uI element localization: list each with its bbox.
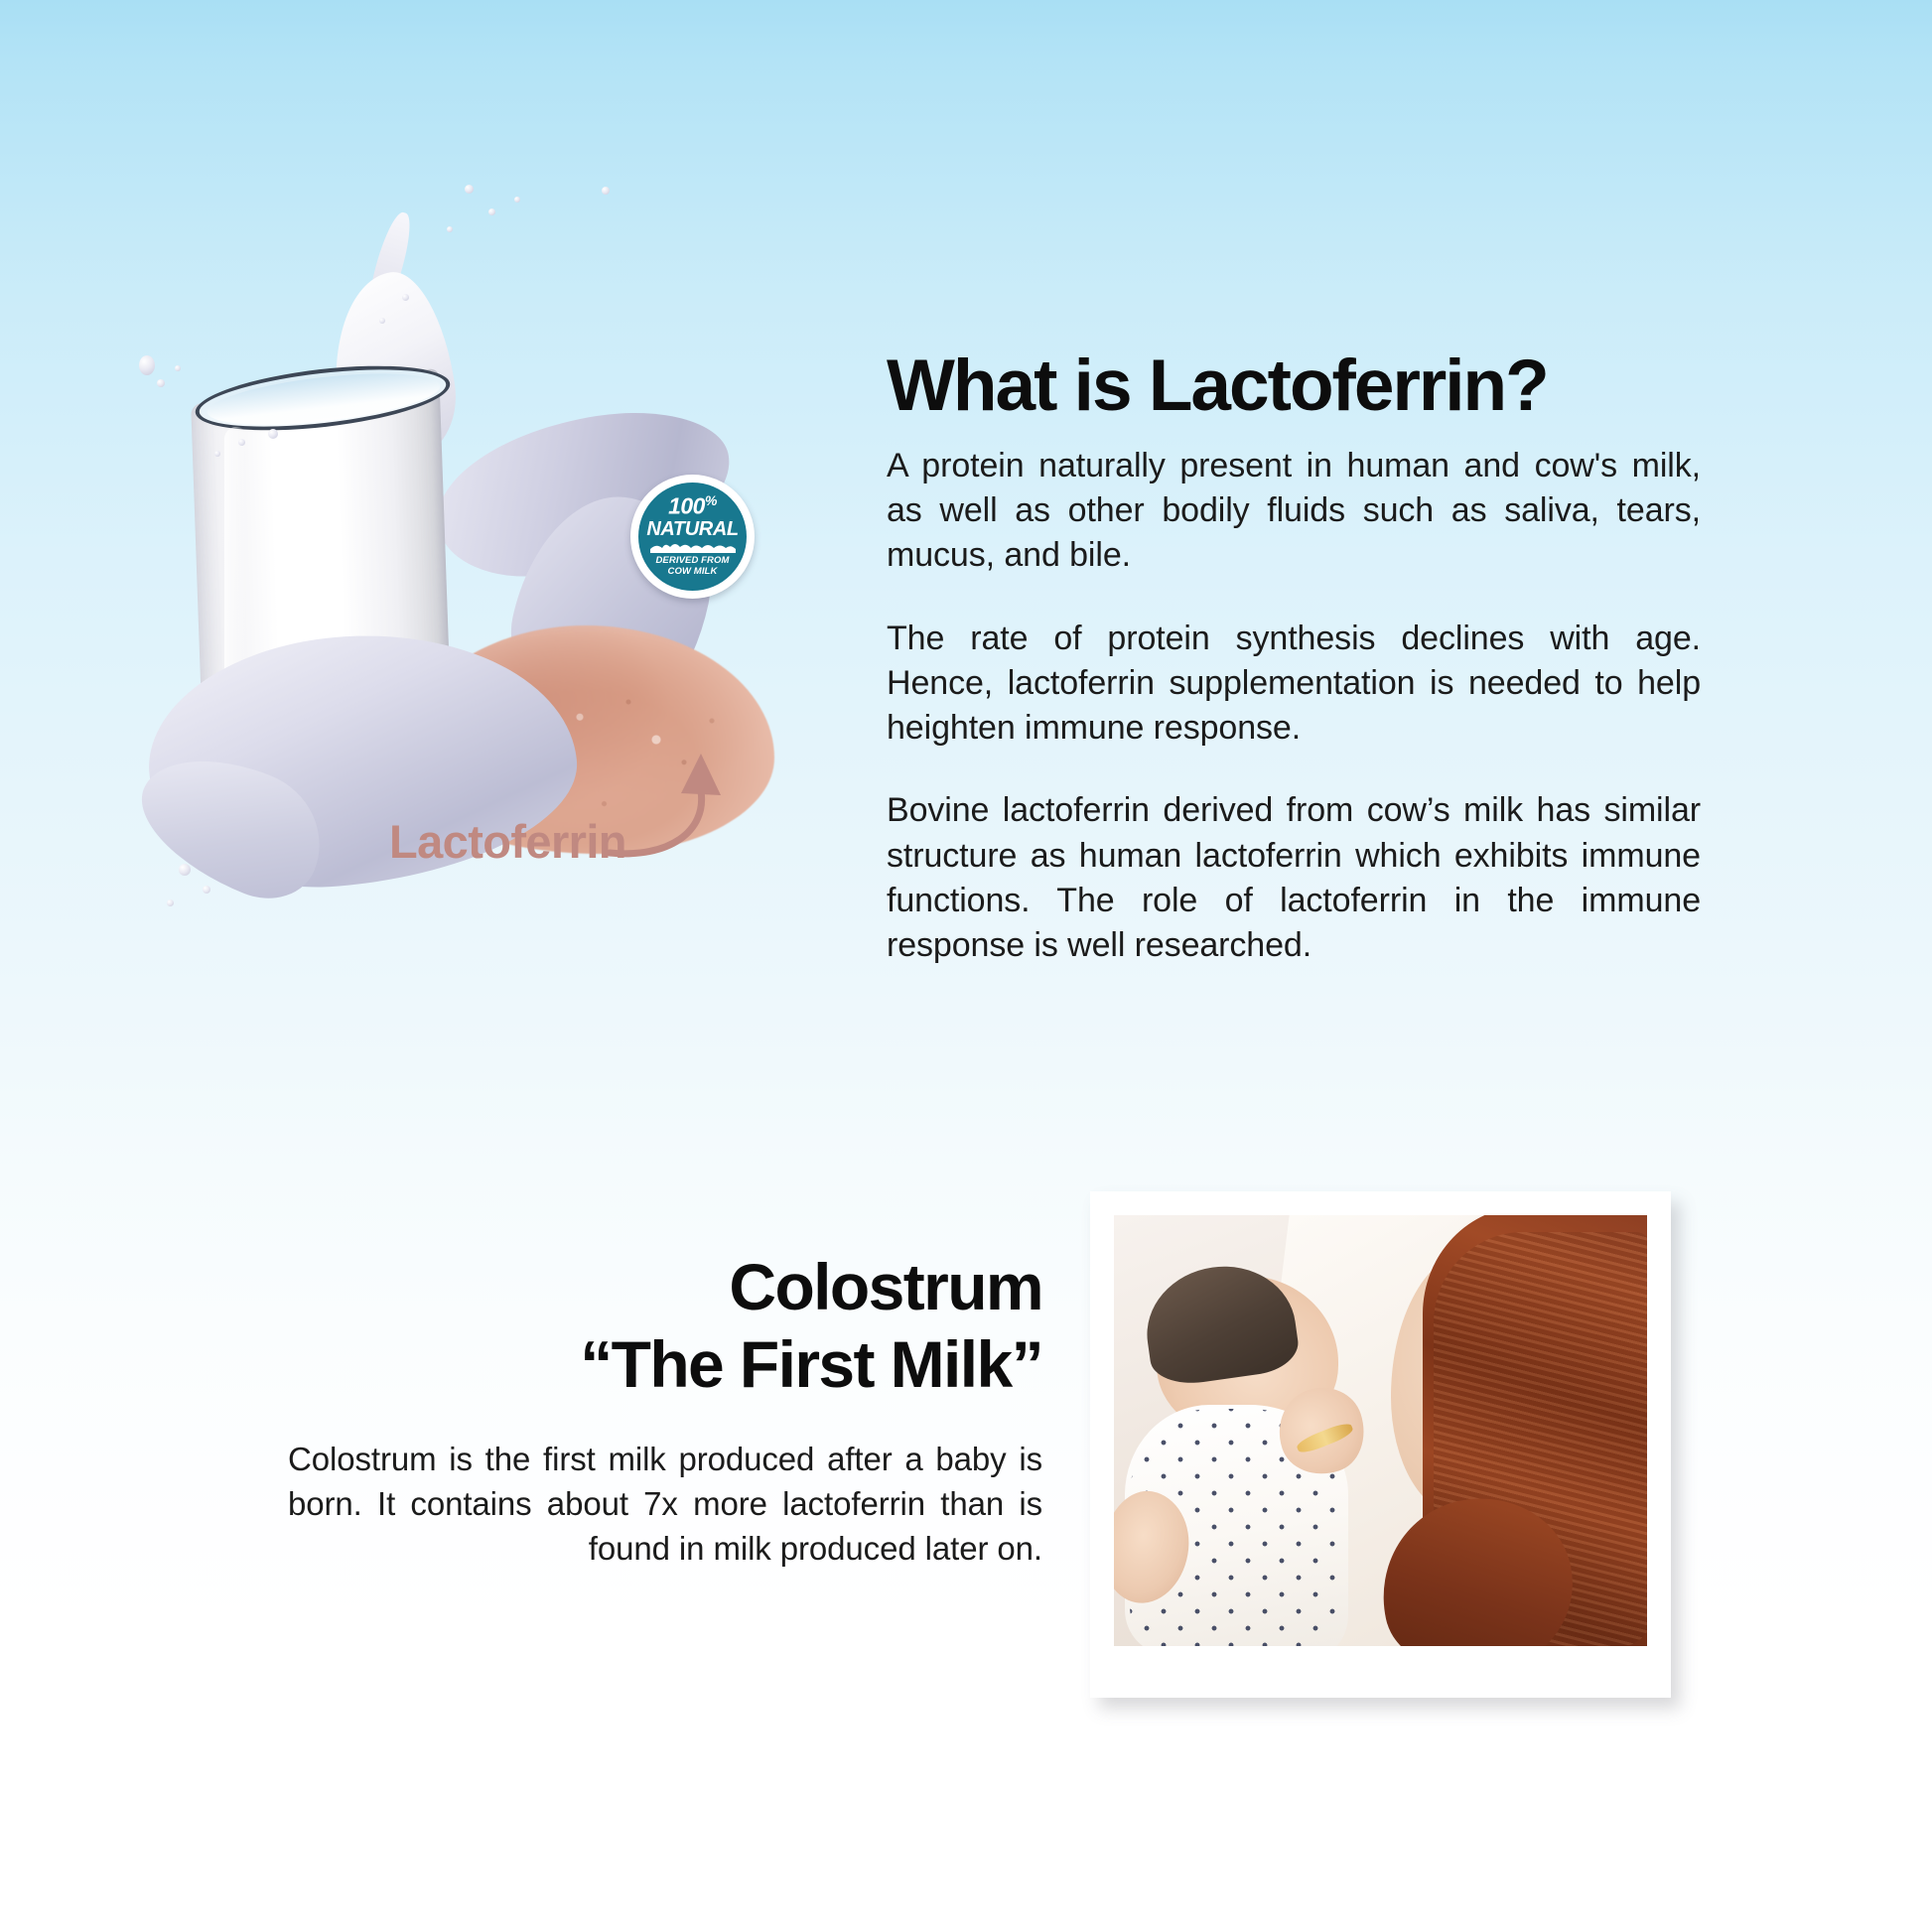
milk-droplet xyxy=(238,439,245,446)
badge-percent-text: 100% xyxy=(668,493,717,518)
badge-percent-symbol: % xyxy=(705,492,717,508)
natural-badge: 100% NATURAL DERIVED FROM COW MILK xyxy=(630,475,755,599)
milk-droplet xyxy=(514,197,520,203)
what-is-lactoferrin-section: What is Lactoferrin? A protein naturally… xyxy=(887,349,1701,968)
milk-droplet xyxy=(268,429,278,439)
breastfeeding-photo-frame xyxy=(1090,1191,1671,1698)
lactoferrin-hero-illustration: 100% NATURAL DERIVED FROM COW MILK Lacto… xyxy=(119,169,854,1092)
milk-droplet xyxy=(139,355,155,375)
infographic-page: 100% NATURAL DERIVED FROM COW MILK Lacto… xyxy=(0,0,1932,1932)
milk-wave-icon xyxy=(650,542,736,553)
milk-droplet xyxy=(465,185,474,194)
milk-droplet xyxy=(602,187,610,195)
milk-droplet xyxy=(379,318,385,324)
page-title: What is Lactoferrin? xyxy=(887,349,1701,422)
about-paragraph-1: A protein naturally present in human and… xyxy=(887,444,1701,579)
breastfeeding-photo xyxy=(1114,1215,1647,1646)
badge-sub-text: DERIVED FROM COW MILK xyxy=(655,555,729,578)
milk-droplet xyxy=(203,886,210,894)
natural-badge-inner: 100% NATURAL DERIVED FROM COW MILK xyxy=(638,483,747,591)
lactoferrin-caption: Lactoferrin xyxy=(389,814,626,869)
colostrum-body: Colostrum is the first milk produced aft… xyxy=(288,1438,1042,1572)
milk-droplet xyxy=(157,379,165,387)
milk-droplet xyxy=(447,226,453,232)
badge-sub-line-2: COW MILK xyxy=(655,566,729,577)
colostrum-title-line-1: Colostrum xyxy=(729,1250,1042,1323)
about-paragraph-2: The rate of protein synthesis declines w… xyxy=(887,617,1701,752)
milk-droplet xyxy=(175,365,181,371)
badge-sub-line-1: DERIVED FROM xyxy=(655,555,729,566)
milk-droplet xyxy=(402,294,409,301)
colostrum-title-line-2: “The First Milk” xyxy=(580,1327,1042,1401)
badge-natural-text: NATURAL xyxy=(646,519,738,539)
milk-droplet xyxy=(167,899,174,906)
curved-arrow-icon xyxy=(604,740,723,869)
colostrum-section: Colostrum “The First Milk” Colostrum is … xyxy=(288,1249,1042,1571)
about-paragraph-3: Bovine lactoferrin derived from cow’s mi… xyxy=(887,788,1701,968)
colostrum-title: Colostrum “The First Milk” xyxy=(288,1249,1042,1404)
milk-droplet xyxy=(179,864,191,876)
milk-droplet xyxy=(214,451,220,457)
milk-droplet xyxy=(488,208,495,215)
badge-percent-number: 100 xyxy=(668,493,705,519)
